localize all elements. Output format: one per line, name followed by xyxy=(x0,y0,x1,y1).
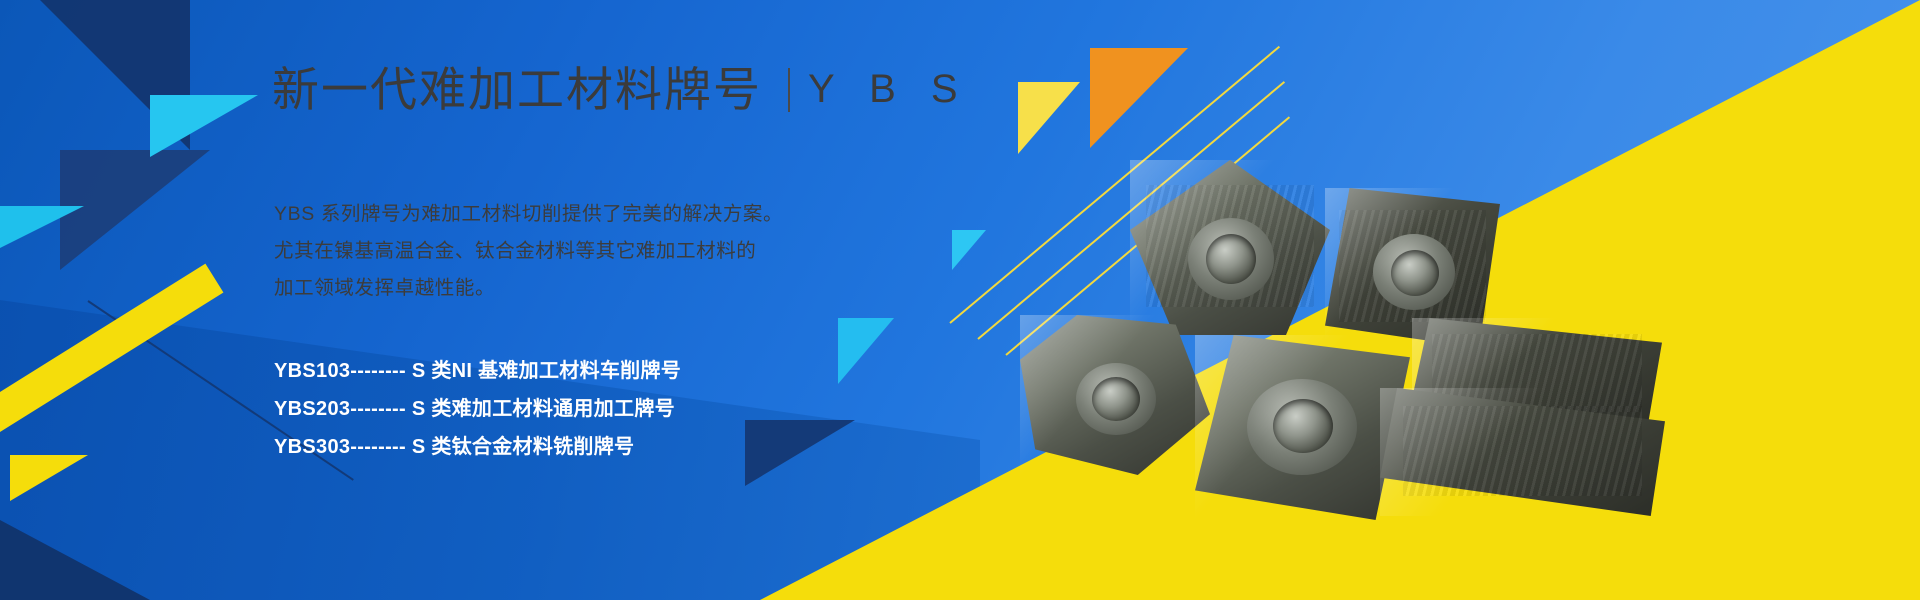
description-line: 尤其在镍基高温合金、钛合金材料等其它难加工材料的 xyxy=(274,233,894,270)
yellow-triangle-decoration xyxy=(10,455,88,501)
product-image-cluster xyxy=(980,140,1760,570)
carbide-insert-pentagon xyxy=(1020,315,1210,475)
carbide-insert-bar-lower xyxy=(1380,388,1665,516)
description-paragraph: YBS 系列牌号为难加工材料切削提供了完美的解决方案。 尤其在镍基高温合金、钛合… xyxy=(274,196,894,307)
cyan-triangle-decoration xyxy=(150,95,258,157)
banner-text-block: 新一代难加工材料牌号 Y B S YBS 系列牌号为难加工材料切削提供了完美的解… xyxy=(272,0,992,600)
insert-center-hole xyxy=(1391,250,1439,296)
model-list-item: YBS303-------- S 类钛合金材料铣削牌号 xyxy=(274,428,681,466)
promo-banner: 新一代难加工材料牌号 Y B S YBS 系列牌号为难加工材料切削提供了完美的解… xyxy=(0,0,1920,600)
model-list-item: YBS103-------- S 类NI 基难加工材料车削牌号 xyxy=(274,352,681,390)
headline-brand: Y B S xyxy=(808,67,970,112)
description-line: 加工领域发挥卓越性能。 xyxy=(274,270,894,307)
model-list-item: YBS203-------- S 类难加工材料通用加工牌号 xyxy=(274,390,681,428)
carbide-insert-milling-square xyxy=(1195,335,1410,520)
insert-center-hole xyxy=(1273,399,1333,453)
cyan-triangle-decoration xyxy=(0,206,84,248)
headline-row: 新一代难加工材料牌号 Y B S xyxy=(272,66,970,113)
carbide-insert-trigon xyxy=(1130,160,1330,335)
insert-center-hole xyxy=(1092,377,1140,421)
insert-chipbreaker-ribs xyxy=(1403,406,1642,496)
insert-center-hole xyxy=(1206,234,1256,284)
headline-title: 新一代难加工材料牌号 xyxy=(272,66,762,113)
navy-triangle-decoration xyxy=(0,520,150,600)
model-list: YBS103-------- S 类NI 基难加工材料车削牌号 YBS203--… xyxy=(274,352,681,466)
headline-divider xyxy=(788,68,790,112)
description-line: YBS 系列牌号为难加工材料切削提供了完美的解决方案。 xyxy=(274,196,894,233)
